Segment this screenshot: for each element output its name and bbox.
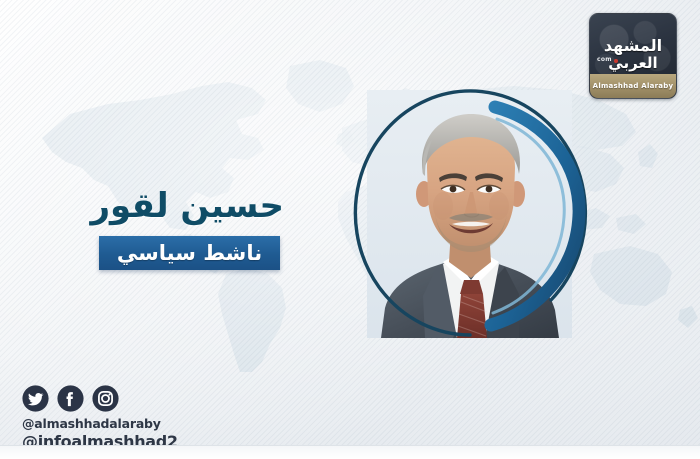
portrait-container xyxy=(345,85,595,343)
social-icons-row xyxy=(22,385,178,412)
bottom-band xyxy=(0,445,700,459)
social-block: @almashhadalaraby @infoalmashhad2 xyxy=(22,385,178,451)
logo-com-label: com xyxy=(597,56,612,63)
twitter-icon[interactable] xyxy=(22,385,49,412)
logo-red-dot-icon xyxy=(614,59,618,63)
logo-arabic-name: المشهد العربي xyxy=(590,37,676,72)
logo-latin-name: Almashhad Alaraby xyxy=(593,82,674,90)
role-badge-label: ناشط سياسي xyxy=(117,241,262,265)
decorative-ring xyxy=(345,85,595,343)
handle-primary[interactable]: @almashhadalaraby xyxy=(22,416,178,431)
instagram-icon[interactable] xyxy=(92,385,119,412)
role-badge: ناشط سياسي xyxy=(99,236,280,270)
logo-arabic-line-1: المشهد xyxy=(590,37,676,54)
promo-card: المشهد العربي com Almashhad Alaraby xyxy=(0,0,700,459)
facebook-icon[interactable] xyxy=(57,385,84,412)
person-name: حسين لقور xyxy=(0,186,284,226)
logo-latin-strip: Almashhad Alaraby xyxy=(590,74,676,98)
channel-logo: المشهد العربي com Almashhad Alaraby xyxy=(589,13,677,99)
